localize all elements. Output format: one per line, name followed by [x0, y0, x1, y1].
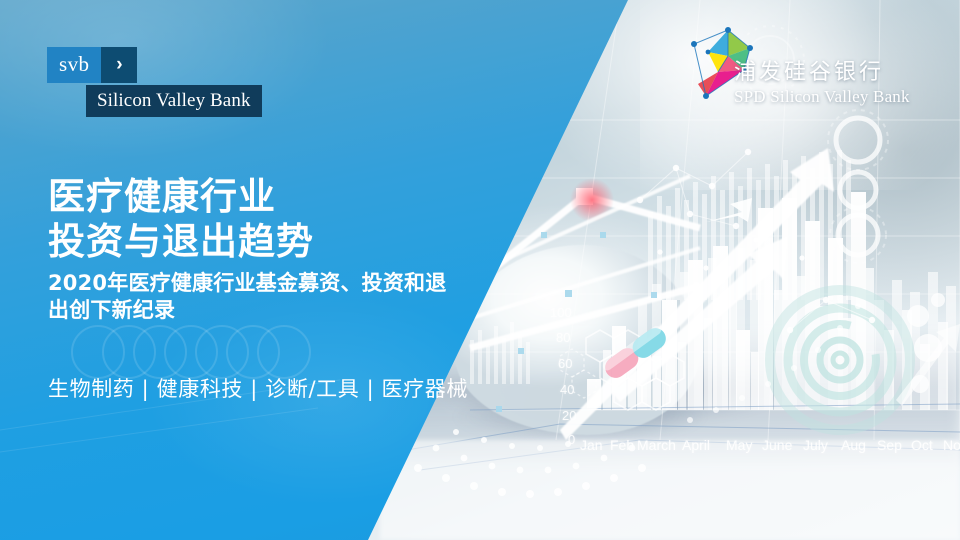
presentation-slide: 100 80 60 40 20 0 Jan Feb March April Ma… — [0, 0, 960, 540]
spd-logo-chinese: 浦发硅谷银行 — [734, 54, 910, 86]
x-tick-oct: Oct — [911, 437, 933, 453]
y-tick-40: 40 — [560, 382, 574, 397]
svb-logo[interactable]: svb › Silicon Valley Bank — [47, 47, 262, 117]
y-tick-60: 60 — [558, 356, 572, 371]
y-tick-0: 0 — [568, 432, 575, 447]
subtitle: 2020年医疗健康行业基金募资、投资和退出创下新纪录 — [48, 270, 448, 324]
y-tick-80: 80 — [556, 330, 570, 345]
title-line-1: 医疗健康行业 — [48, 174, 478, 219]
x-tick-may: May — [726, 437, 752, 453]
x-tick-jan: Jan — [580, 437, 603, 453]
chevron-right-icon: › — [101, 47, 137, 83]
title-line-2: 投资与退出趋势 — [48, 219, 478, 264]
x-tick-aug: Aug — [841, 437, 866, 453]
x-tick-feb: Feb — [610, 437, 634, 453]
sector-tagline: 生物制药 | 健康科技 | 诊断/工具 | 医疗器械 — [48, 373, 468, 403]
x-tick-march: March — [637, 437, 676, 453]
y-tick-20: 20 — [562, 408, 576, 423]
y-tick-100: 100 — [550, 305, 572, 320]
spd-svb-logo[interactable]: 浦发硅谷银行 SPD Silicon Valley Bank — [688, 26, 903, 106]
x-tick-june: June — [762, 437, 792, 453]
title-block: 医疗健康行业 投资与退出趋势 2020年医疗健康行业基金募资、投资和退出创下新纪… — [48, 174, 478, 324]
x-tick-sep: Sep — [877, 437, 902, 453]
spd-logo-english: SPD Silicon Valley Bank — [734, 87, 910, 107]
bottom-haze — [380, 440, 960, 540]
x-tick-july: July — [803, 437, 828, 453]
svb-mark-text: svb — [47, 47, 101, 83]
x-tick-april: April — [682, 437, 710, 453]
x-tick-nov: Nov — [943, 437, 960, 453]
svb-logo-name: Silicon Valley Bank — [86, 85, 262, 117]
